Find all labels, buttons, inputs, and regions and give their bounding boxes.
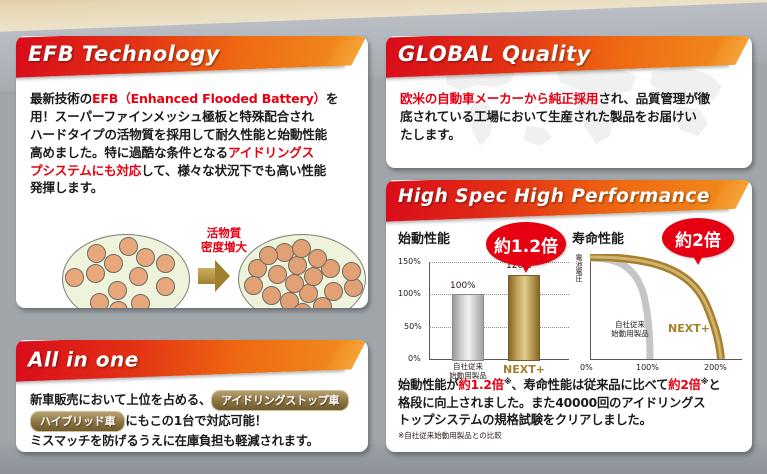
active-material-dot (131, 294, 150, 308)
highspec-text-line-1: 始動性能が約1.2倍※、寿命性能は従来品に比べて約2倍※と (398, 376, 744, 395)
efb-text-line-1-seg-3: を (326, 91, 338, 106)
active-material-dot (108, 281, 127, 300)
gridline-100 (429, 294, 569, 295)
active-material-dot (129, 267, 148, 286)
global-text-line-3-seg-1: たします。 (400, 127, 461, 142)
startup-ytick-0: 0% (408, 354, 421, 363)
allinone-line-2: ハイブリッド車にもこの1台で対応可能！ (30, 411, 360, 432)
panel-all-in-one: All in one 新車販売において上位を占める、アイドリングストップ車 ハイ… (16, 340, 368, 452)
active-material-dot (90, 293, 109, 308)
panel-global-quality: GLOBAL Quality 欧米の自動車メーカーから純正採用され、品質管理が徹… (386, 36, 752, 168)
life-label-conventional-l2: 始動用製品 (604, 329, 656, 338)
efb-text-line-4-seg-2: アイドリングス (228, 145, 314, 160)
active-material-dot (65, 268, 84, 287)
life-label-next-plus: NEXT+ (664, 322, 714, 335)
active-material-dot (308, 249, 327, 268)
efb-text-line-1-seg-2: EFB（Enhanced Flooded Battery） (92, 91, 326, 106)
life-xtick-100: 100% (636, 363, 659, 372)
highspec-text-line-2: 格段に向上されました。また40000回のアイドリングス (398, 395, 744, 412)
efb-text-line-6-seg-1: 発揮します。 (30, 180, 103, 195)
life-y-axis-label: 電池電圧 (574, 254, 584, 302)
bar-caption-next-plus: NEXT+ (500, 363, 548, 376)
active-material-dot (119, 237, 138, 256)
active-material-dot (342, 262, 361, 281)
highspec-text-line-2-seg-1: 格段に向上されました。また40000回のアイドリングス (398, 396, 705, 410)
startup-ytick-150: 150% (398, 257, 421, 266)
highspec-text-line-3: トップシステムの規格試験をクリアしました。 (398, 412, 744, 429)
startup-y-axis (429, 262, 430, 360)
panel-high-spec: High Spec High Performance 始動性能 150% 100… (386, 180, 752, 452)
efb-text-line-5-seg-2: して、様々な状況下でも高い性能 (141, 163, 326, 178)
active-material-dot (156, 277, 175, 296)
efb-text-line-2: 用！スーパーファインメッシュ極板と特殊配合され (30, 108, 360, 126)
efb-banner-label: EFB Technology (16, 42, 220, 66)
global-paragraph: 欧米の自動車メーカーから純正採用され、品質管理が徹底されている工場において生産さ… (400, 90, 744, 144)
active-material-dot (304, 267, 323, 286)
efb-text-line-1: 最新技術のEFB（Enhanced Flooded Battery）を (30, 90, 360, 108)
global-text-line-1-seg-2: され、品質管理が徹 (598, 91, 710, 106)
efb-text-line-5-seg-1: プシステムにも対応 (30, 163, 141, 178)
efb-paragraph: 最新技術のEFB（Enhanced Flooded Battery）を用！スーパ… (30, 90, 360, 197)
allinone-banner-label: All in one (16, 348, 139, 372)
active-material-dot (259, 246, 278, 265)
active-material-dot (136, 248, 155, 267)
startup-ytick-100: 100% (398, 289, 421, 298)
chart-startup-title: 始動性能 (398, 228, 450, 247)
active-material-dot (109, 301, 128, 308)
active-material-dot (87, 244, 106, 263)
callout-life: 約2倍 (662, 218, 734, 258)
allinone-line1-text: 新車販売において上位を占める、 (30, 393, 211, 407)
startup-x-axis (429, 359, 569, 360)
efb-text-line-2-seg-1: 用！スーパーファインメッシュ極板と特殊配合され (30, 109, 314, 124)
highspec-banner-label: High Spec High Performance (386, 185, 710, 206)
global-text-line-3: たします。 (400, 126, 744, 144)
allinone-banner: All in one (16, 340, 344, 382)
life-label-conventional-l1: 自社従来 (604, 320, 656, 329)
pill-idling-stop-car: アイドリングストップ車 (211, 390, 349, 411)
efb-text-line-3: ハードタイプの活物質を採用して耐久性能と始動性能 (30, 126, 360, 144)
highspec-summary: 始動性能が約1.2倍※、寿命性能は従来品に比べて約2倍※と格段に向上されました。… (398, 376, 744, 429)
bar-conventional (452, 294, 484, 361)
bar-caption-conventional-l1: 自社従来 (440, 362, 496, 371)
efb-text-line-6: 発揮します。 (30, 179, 360, 197)
bar-value-conventional: 100% (450, 281, 476, 291)
pill-hybrid-car: ハイブリッド車 (30, 411, 125, 432)
panel-efb-technology: EFB Technology 最新技術のEFB（Enhanced Flooded… (16, 36, 368, 308)
highspec-text-line-1-seg-1: 始動性能が (398, 378, 459, 392)
life-xtick-0: 0% (580, 363, 593, 372)
highspec-text-line-3-seg-1: トップシステムの規格試験をクリアしました。 (398, 413, 652, 427)
active-material-dot (244, 276, 263, 295)
active-material-dot (104, 254, 123, 273)
life-curves (590, 254, 744, 360)
allinone-line2-text: にもこの1台で対応可能！ (125, 414, 266, 428)
arrow-right-icon (198, 260, 234, 292)
gridline-50 (429, 327, 569, 328)
active-material-dot (262, 286, 281, 305)
global-text-line-1: 欧米の自動車メーカーから純正採用され、品質管理が徹 (400, 90, 744, 108)
efb-banner: EFB Technology (16, 36, 344, 78)
efb-text-line-5: プシステムにも対応して、様々な状況下でも高い性能 (30, 162, 360, 180)
density-label-line1: 活物質 (182, 226, 266, 240)
highspec-text-line-1-seg-4: 、寿命性能は従来品に比べて (511, 378, 668, 392)
efb-text-line-3-seg-1: ハードタイプの活物質を採用して耐久性能と始動性能 (30, 127, 327, 142)
active-material-dot (285, 274, 304, 293)
global-banner-label: GLOBAL Quality (386, 42, 591, 66)
allinone-paragraph: 新車販売において上位を占める、アイドリングストップ車 ハイブリッド車にもこの1台… (30, 390, 360, 451)
efb-text-line-4: 高めました。特に過酷な条件となるアイドリングス (30, 144, 360, 162)
callout-startup: 約1.2倍 (486, 222, 566, 266)
global-text-line-2: 底されている工場において生産された製品をお届けい (400, 108, 744, 126)
bar-next-plus (508, 275, 540, 361)
highspec-text-line-1-seg-5: 約2倍 (668, 378, 701, 392)
active-material-dot (86, 264, 105, 283)
life-label-conventional: 自社従来 始動用製品 (604, 320, 656, 338)
highspec-banner: High Spec High Performance (386, 180, 728, 222)
allinone-line-3: ミスマッチを防げるうえに在庫負担も軽減されます。 (30, 432, 360, 451)
efb-text-line-1-seg-1: 最新技術の (30, 91, 92, 106)
efb-text-line-4-seg-1: 高めました。特に過酷な条件となる (30, 145, 228, 160)
ellipse-conventional (62, 234, 190, 308)
chart-life-title: 寿命性能 (572, 228, 624, 247)
allinone-line-1: 新車販売において上位を占める、アイドリングストップ車 (30, 390, 360, 411)
active-material-dot (344, 278, 363, 297)
global-text-line-1-seg-1: 欧米の自動車メーカーから純正採用 (400, 91, 598, 106)
active-material-dot (156, 254, 175, 273)
highspec-text-line-1-seg-7: と (708, 378, 720, 392)
life-xtick-200: 200% (704, 363, 727, 372)
global-text-line-2-seg-1: 底されている工場において生産された製品をお届けい (400, 109, 697, 124)
highspec-text-line-1-seg-2: 約1.2倍 (459, 378, 504, 392)
startup-ytick-50: 50% (404, 322, 422, 331)
highspec-footnote: ※自社従来始動用製品との比較 (398, 430, 502, 441)
